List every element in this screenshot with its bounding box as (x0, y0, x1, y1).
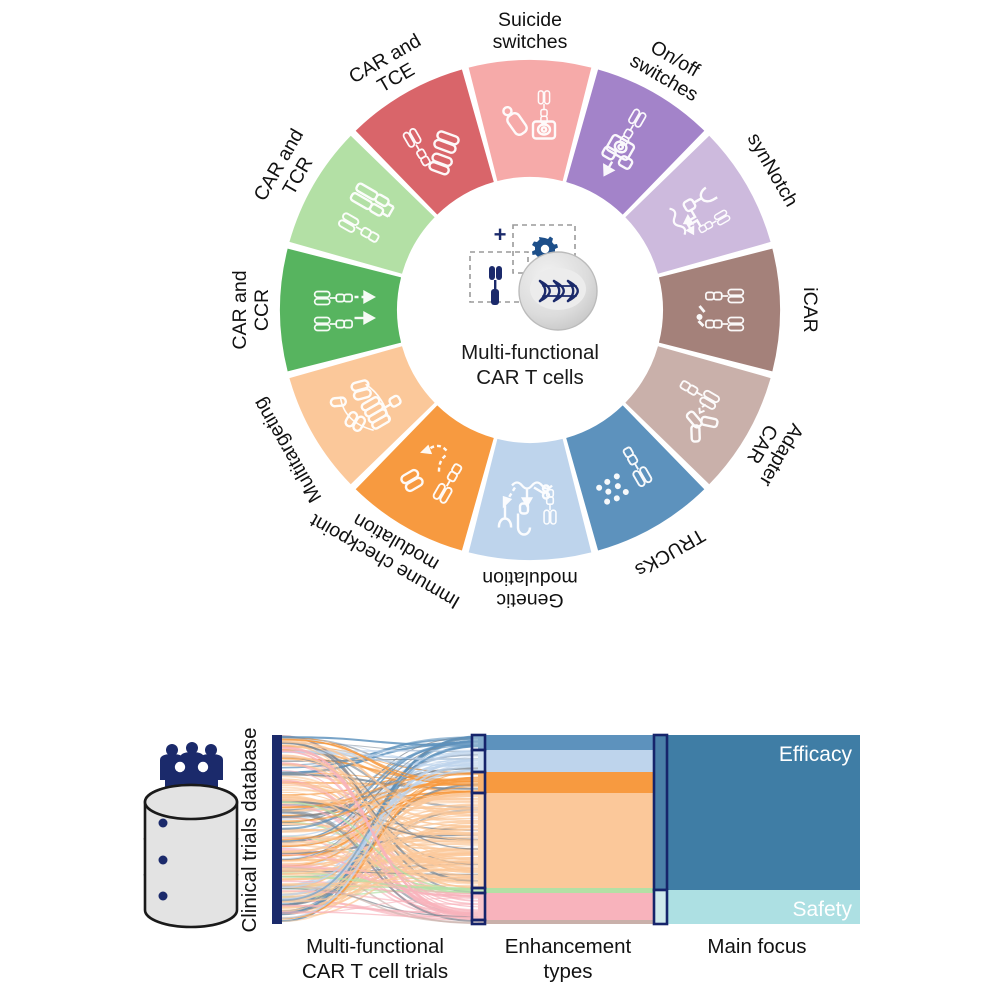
sankey-enhancement-node[interactable] (472, 750, 485, 772)
svg-text:CCR: CCR (251, 289, 273, 331)
sankey-focus-nodes: EfficacySafety (654, 735, 860, 924)
sankey-enhancement-band[interactable] (478, 772, 660, 793)
sankey-diagram: Clinical trials database EfficacySafety … (0, 650, 996, 996)
svg-text:iCAR: iCAR (799, 287, 821, 333)
sankey-enhancement-node[interactable] (472, 793, 485, 888)
sankey-column-label: types (544, 960, 593, 983)
wheel-label-car-and-ccr: CAR andCCR (229, 270, 273, 349)
sankey-enhancement-node[interactable] (472, 735, 485, 750)
sankey-enhancement-node[interactable] (472, 920, 485, 924)
sankey-column-label: Enhancement (505, 935, 632, 958)
sankey-enhancement-band[interactable] (478, 793, 660, 888)
sankey-column-labels: Multi-functionalCAR T cell trialsEnhance… (302, 935, 807, 983)
sankey-enhancement-band[interactable] (478, 920, 660, 924)
wheel-center-title-line1: Multi-functional (461, 341, 599, 364)
wheel-diagram: + (0, 0, 996, 650)
sankey-focus-node[interactable] (654, 735, 667, 890)
wheel-label-icar: iCAR (799, 287, 821, 333)
svg-text:modulation: modulation (482, 567, 577, 589)
svg-text:Suicide: Suicide (498, 9, 562, 31)
svg-text:Genetic: Genetic (496, 589, 563, 611)
sankey-column-label: Main focus (707, 935, 806, 958)
sankey-source-axis-label: Clinical trials database (238, 727, 261, 932)
svg-text:CAR and: CAR and (229, 270, 251, 349)
sankey-trial-ribbon (282, 885, 478, 886)
sankey-enhancement-node[interactable] (472, 893, 485, 920)
sankey-panel: Clinical trials database EfficacySafety … (0, 650, 996, 996)
sankey-focus-node[interactable] (654, 890, 667, 924)
dna-helix-icon (540, 281, 578, 301)
sankey-flow-ribbons (282, 736, 478, 923)
sankey-focus-label: Safety (792, 898, 852, 921)
sankey-focus-label: Efficacy (779, 743, 853, 766)
svg-text:switches: switches (493, 31, 568, 53)
wheel-label-suicide-switches: Suicideswitches (493, 9, 568, 53)
sankey-column-label: CAR T cell trials (302, 960, 448, 983)
wheel-center-title-line2: CAR T cells (476, 366, 583, 389)
plus-icon: + (494, 222, 507, 247)
wheel-label-genetic-modulation: Geneticmodulation (482, 567, 577, 611)
sankey-enhancement-node[interactable] (472, 772, 485, 793)
sankey-enhancement-band[interactable] (478, 735, 660, 750)
sankey-enhancement-band[interactable] (478, 893, 660, 920)
sankey-column-label: Multi-functional (306, 935, 444, 958)
sankey-bands (478, 735, 660, 924)
sankey-enhancement-band[interactable] (478, 750, 660, 772)
wheel-panel: + (0, 0, 996, 650)
sankey-enhancement-band[interactable] (478, 888, 660, 893)
database-people-icon (145, 742, 237, 927)
sankey-source-node[interactable] (272, 735, 282, 924)
